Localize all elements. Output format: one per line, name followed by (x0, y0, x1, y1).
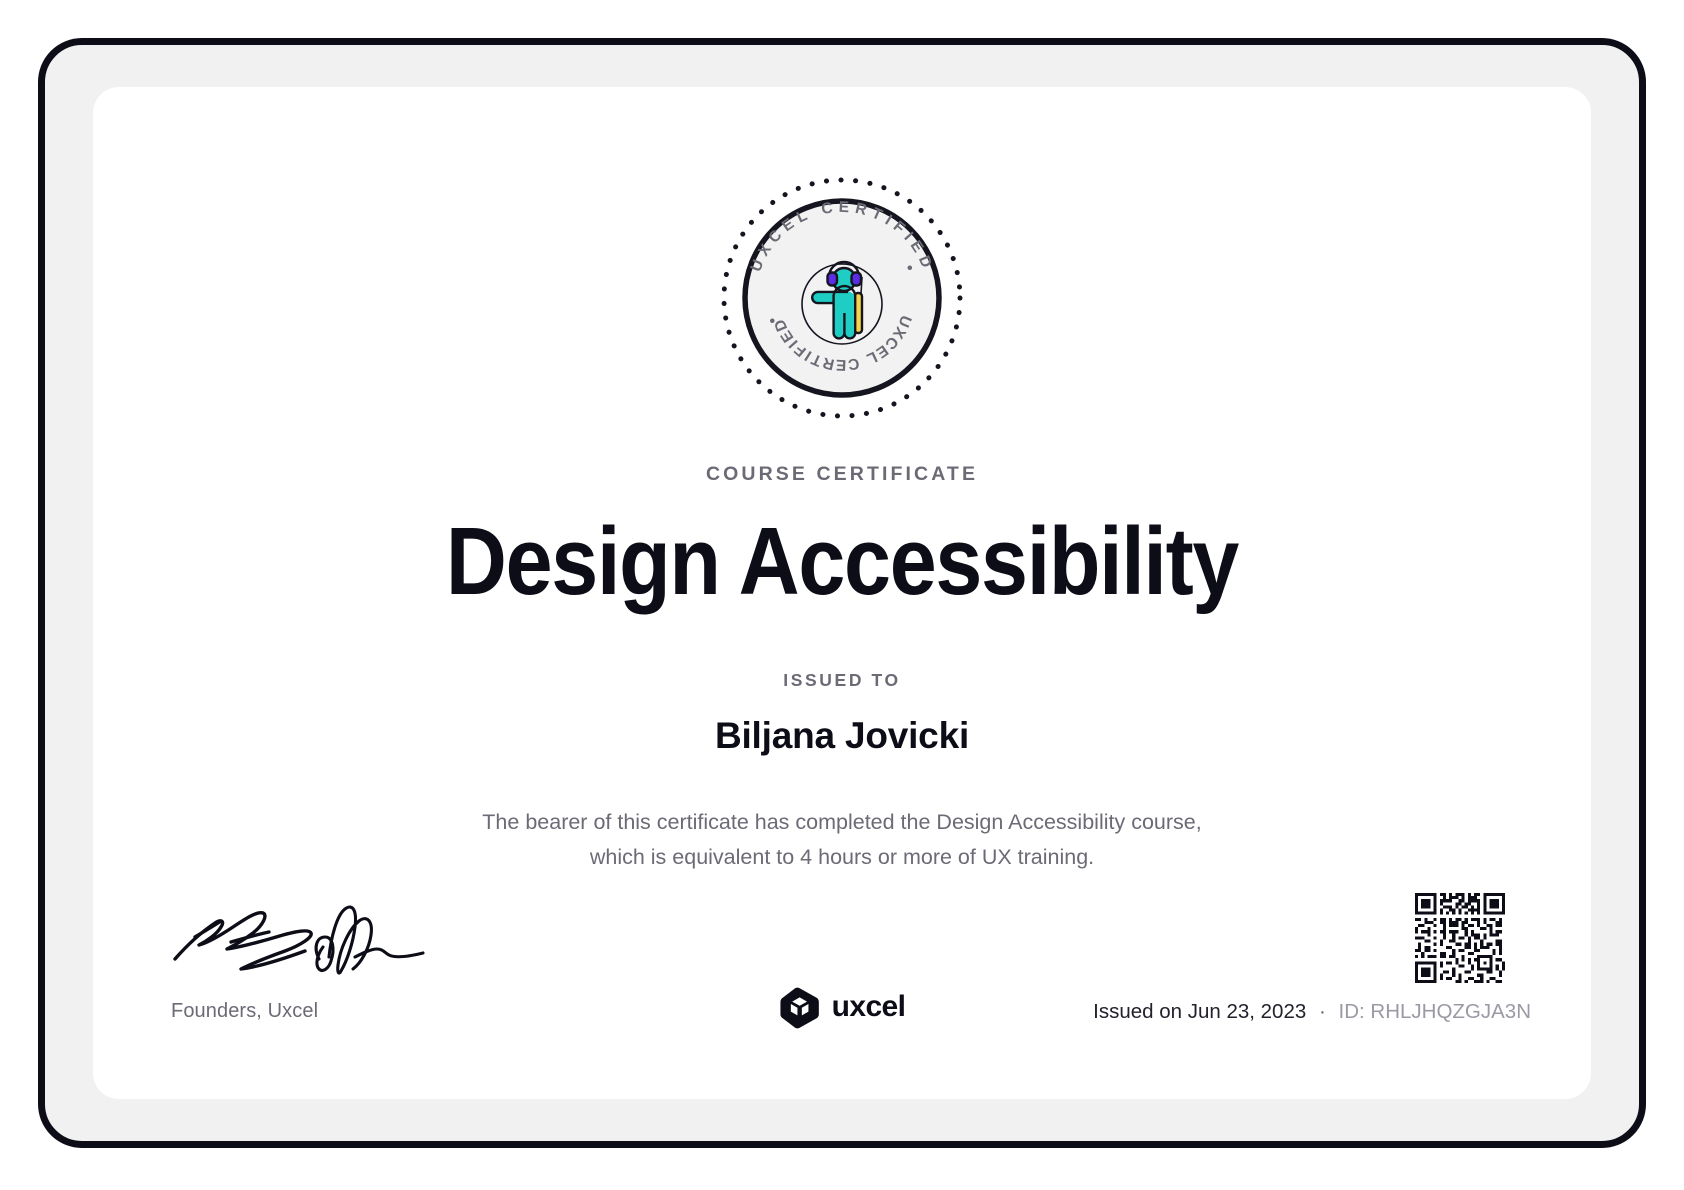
issued-on-date: Issued on Jun 23, 2023 (1093, 1000, 1306, 1023)
svg-text:•: • (907, 260, 917, 277)
issued-to-label: ISSUED TO (93, 670, 1591, 691)
certificate-frame: UXCEL CERTIFIED UXCEL CERTIFIED • • (38, 38, 1646, 1148)
signature-one (175, 913, 311, 969)
meta-separator: · (1312, 1000, 1333, 1023)
page-title: Design Accessibility (183, 510, 1501, 614)
recipient-name: Biljana Jovicki (93, 715, 1591, 757)
uxcel-logo: uxcel (779, 987, 906, 1029)
svg-text:•: • (770, 313, 780, 330)
description-line-1: The bearer of this certificate has compl… (93, 805, 1591, 840)
uxcel-cube-hexagon-logo-icon (779, 987, 821, 1029)
uxcel-certified-badge: UXCEL CERTIFIED UXCEL CERTIFIED • • (717, 173, 967, 423)
certificate-id: ID: RHLJHQZGJA3N (1339, 1000, 1532, 1023)
issue-metadata: Issued on Jun 23, 2023 · ID: RHLJHQZGJA3… (1093, 1000, 1531, 1024)
certificate-description: The bearer of this certificate has compl… (93, 805, 1591, 875)
signature-two (316, 907, 423, 973)
certificate-card: UXCEL CERTIFIED UXCEL CERTIFIED • • (93, 87, 1591, 1099)
founder-signatures (171, 887, 471, 983)
founders-caption: Founders, Uxcel (171, 1000, 318, 1023)
description-line-2: which is equivalent to 4 hours or more o… (93, 840, 1591, 875)
course-certificate-label: COURSE CERTIFICATE (93, 463, 1591, 486)
uxcel-wordmark: uxcel (832, 992, 906, 1024)
certificate-qr-code[interactable] (1415, 893, 1505, 983)
